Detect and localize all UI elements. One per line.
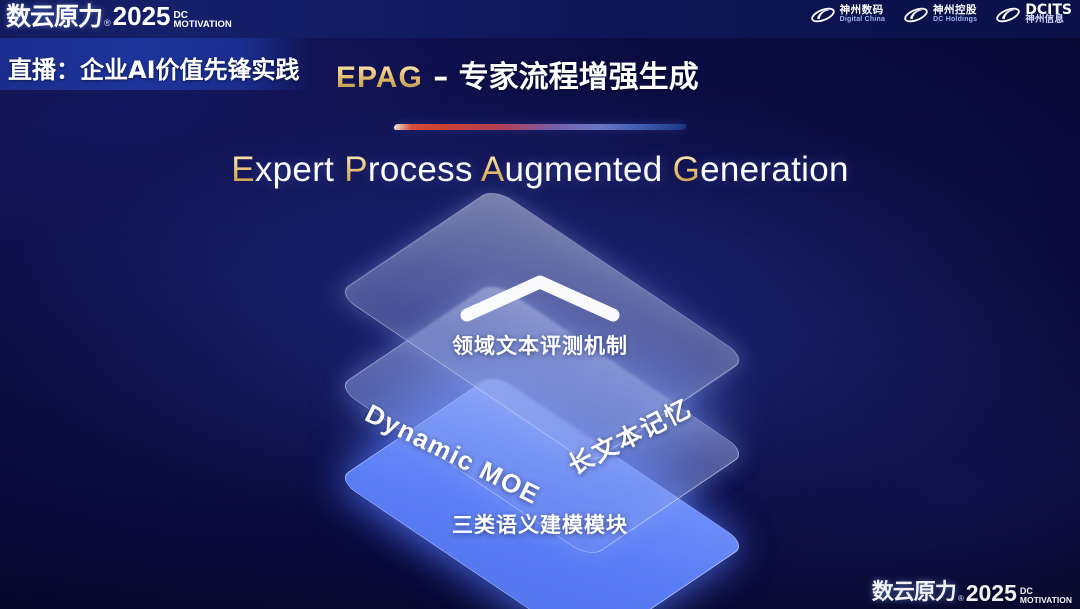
subtitle-letter-a: A (481, 150, 505, 189)
brand-logo-header: 数云原力 ® 2025 DC MOTIVATION (6, 3, 232, 30)
swirl-logo-icon (903, 4, 929, 26)
watermark-motivation-label: MOTIVATION (1020, 596, 1072, 605)
subtitle-word-process: rocess (368, 150, 481, 189)
chevron-up-icon (457, 271, 623, 330)
subtitle-expansion: Expert Process Augmented Generation (0, 150, 1080, 190)
logo-digital-china: 神州数码 Digital China (810, 4, 885, 26)
subtitle-word-generation: eneration (700, 150, 849, 189)
swirl-logo-icon (810, 4, 836, 26)
subtitle-word-augmented: ugmented (505, 150, 673, 189)
subtitle-letter-e: E (231, 150, 255, 189)
page-title: EPAG – 专家流程增强生成 (336, 52, 699, 96)
partner-logos: 神州数码 Digital China 神州控股 DC Holdings (810, 4, 1072, 26)
logo-label-cn: 神州控股 (933, 5, 977, 15)
title-acronym: EPAG (336, 61, 423, 94)
watermark-dc-motivation: DC MOTIVATION (1020, 587, 1072, 604)
watermark-registered-mark: ® (958, 593, 964, 605)
subtitle-letter-p: P (344, 150, 368, 189)
live-stream-title: 直播：企业AI价值先锋实践 (8, 50, 300, 85)
swirl-logo-icon (995, 4, 1021, 26)
watermark-year: 2025 (966, 581, 1017, 605)
brand-dc-motivation: DC MOTIVATION (174, 11, 232, 29)
logo-label-cn-sub: 神州信息 (1025, 15, 1072, 25)
brand-name-cn: 数云原力 (6, 3, 102, 30)
layer-label-top: 领域文本评测机制 (452, 330, 628, 360)
logo-label-en: DC Holdings (933, 15, 977, 25)
brand-registered-mark: ® (104, 16, 111, 30)
layer-label-bottom: 三类语义建模模块 (452, 509, 628, 539)
brand-motivation-label: MOTIVATION (174, 20, 232, 29)
brand-year: 2025 (113, 3, 171, 30)
logo-label-cn: 神州数码 (840, 5, 885, 15)
watermark-name-cn: 数云原力 (872, 581, 956, 605)
logo-label-en: Digital China (840, 15, 885, 25)
title-chinese: – 专家流程增强生成 (423, 60, 699, 95)
logo-dcits: DCITS 神州信息 (995, 4, 1072, 26)
brand-watermark-footer: 数云原力 ® 2025 DC MOTIVATION (872, 581, 1072, 605)
gradient-divider (393, 124, 687, 130)
logo-dc-holdings: 神州控股 DC Holdings (903, 4, 977, 26)
subtitle-letter-g: G (673, 150, 701, 189)
slide-canvas: 数云原力 ® 2025 DC MOTIVATION 神州数码 Digital C… (0, 0, 1080, 609)
subtitle-word-expert: xpert (255, 150, 344, 189)
